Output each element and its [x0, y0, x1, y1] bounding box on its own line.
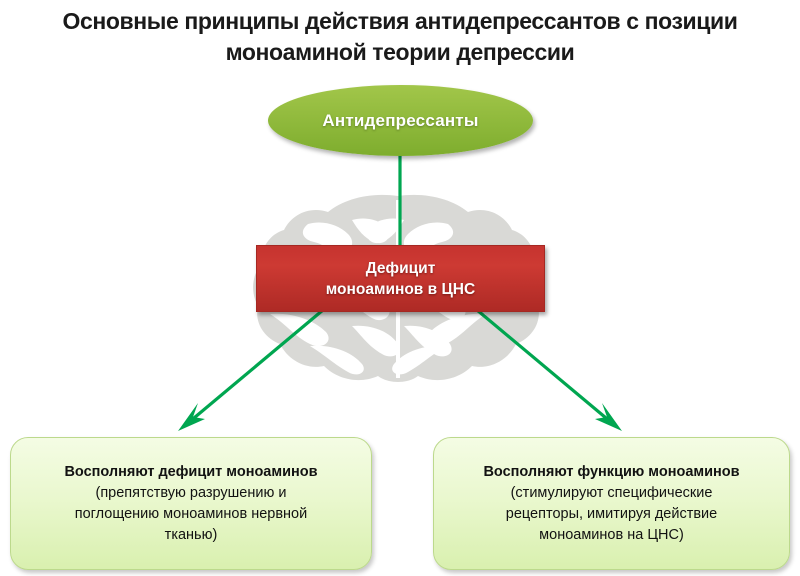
node-antidepressants-label: Антидепрессанты — [322, 111, 478, 131]
node-replenish-function[interactable]: Восполняют функцию моноаминов (стимулиру… — [433, 437, 790, 570]
node-monoamine-deficit[interactable]: Дефицит моноаминов в ЦНС — [256, 245, 545, 312]
node-replenish-function-heading: Восполняют функцию моноаминов — [483, 462, 739, 483]
node-monoamine-deficit-label: Дефицит моноаминов в ЦНС — [326, 258, 475, 300]
arrowhead-left — [178, 403, 205, 431]
connector-branch-left — [188, 310, 323, 423]
connector-branch-right — [477, 310, 612, 423]
node-replenish-deficit-body: (препятствую разрушению и поглощению мон… — [64, 483, 317, 546]
node-replenish-function-body: (стимулируют специфические рецепторы, им… — [483, 483, 739, 546]
node-replenish-deficit[interactable]: Восполняют дефицит моноаминов (препятств… — [10, 437, 372, 570]
diagram-canvas: Основные принципы действия антидепрессан… — [0, 0, 800, 576]
node-replenish-deficit-content: Восполняют дефицит моноаминов (препятств… — [52, 462, 329, 546]
node-replenish-deficit-heading: Восполняют дефицит моноаминов — [64, 462, 317, 483]
node-antidepressants[interactable]: Антидепрессанты — [268, 85, 533, 156]
node-replenish-function-content: Восполняют функцию моноаминов (стимулиру… — [471, 462, 751, 546]
arrowhead-right — [595, 403, 622, 431]
